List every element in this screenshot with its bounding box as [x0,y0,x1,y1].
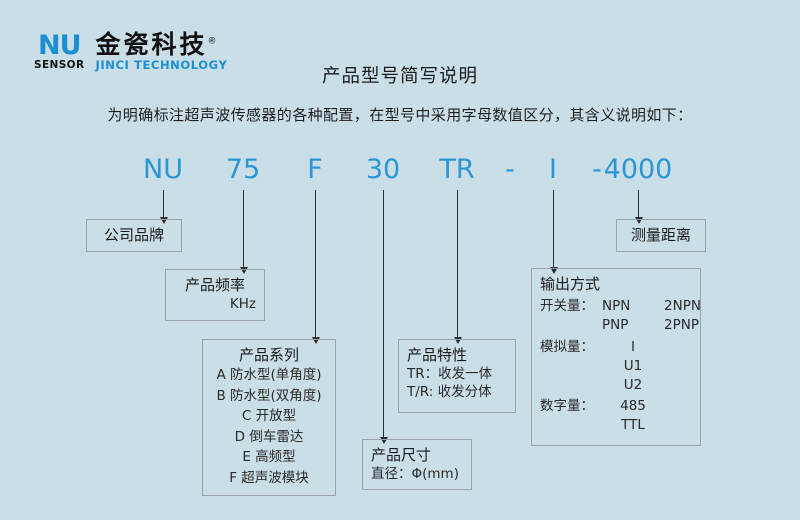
model-part-2: F [285,154,345,185]
model-part-3: 30 [353,154,413,185]
output-group-key-0: 开关量： [540,294,602,314]
output-row-0-0: 开关量：NPN2NPN [540,294,692,316]
output-values-2-1: TTL [602,416,664,435]
model-part-8: 4000 [598,154,678,185]
page-title: 产品型号简写说明 [0,62,800,88]
connector-line-brand [163,190,164,217]
output-values-0-0: NPN2NPN [602,297,726,316]
diagram-canvas: NU SENSOR 金瓷科技® JINCI TECHNOLOGY 产品型号简写说… [0,0,800,520]
series-item-2: C 开放型 [211,406,327,427]
callout-box-frequency: 产品频率 KHz [165,269,265,321]
output-group-key-1: 模拟量： [540,335,602,355]
callout-box-series: 产品系列 A 防水型(单角度)B 防水型(双角度)C 开放型D 倒车雷达E 高频… [202,339,336,496]
output-values-1-0: I [602,338,664,357]
callout-output-title: 输出方式 [540,273,692,294]
feature-item-0: TR：收发一体 [407,365,507,383]
connector-line-series [315,190,316,337]
series-item-4: E 高频型 [211,447,327,468]
connector-line-freq [243,190,244,267]
output-row-0-1: PNP2PNP [540,316,692,335]
callout-series-title: 产品系列 [211,344,327,365]
output-row-1-1: U1 [540,357,692,376]
model-part-5: - [490,154,530,185]
output-values-2-0: 485 [602,397,664,416]
output-values-0-1: PNP2PNP [602,316,726,335]
output-values-1-1: U1 [602,357,664,376]
output-value-a-1-2: U2 [602,376,664,395]
output-value-a-2-0: 485 [602,397,664,416]
connector-line-output [553,190,554,267]
output-values-1-2: U2 [602,376,664,395]
feature-item-1: T/R: 收发分体 [407,383,507,401]
model-part-6: I [533,154,573,185]
output-row-2-1: TTL [540,416,692,435]
callout-feature-title: 产品特性 [407,344,507,365]
callout-feature-list: TR：收发一体T/R: 收发分体 [407,365,507,401]
output-row-2-0: 数字量：485 [540,394,692,416]
series-item-0: A 防水型(单角度) [211,365,327,386]
size-item-0: 直径：Φ(mm) [371,465,463,483]
output-value-b-0-0: 2NPN [664,297,726,316]
callout-output-groups: 开关量：NPN2NPNPNP2PNP模拟量：IU1U2数字量：485TTL [540,294,692,435]
output-row-1-2: U2 [540,376,692,395]
callout-distance-title: 测量距离 [625,224,697,245]
registered-trademark-icon: ® [208,37,217,47]
connector-line-distance [638,190,639,217]
model-part-0: NU [133,154,193,185]
output-value-a-1-1: U1 [602,357,664,376]
connector-line-feature [457,190,458,337]
output-value-b-0-1: 2PNP [664,316,726,335]
output-row-1-0: 模拟量：I [540,335,692,357]
series-item-3: D 倒车雷达 [211,427,327,448]
series-item-5: F 超声波模块 [211,468,327,489]
callout-size-title: 产品尺寸 [371,444,463,465]
callout-series-list: A 防水型(单角度)B 防水型(双角度)C 开放型D 倒车雷达E 高频型F 超声… [211,365,327,488]
model-part-1: 75 [213,154,273,185]
logo-mark-text: NU [38,32,81,59]
callout-brand-title: 公司品牌 [95,224,173,245]
output-value-a-0-1: PNP [602,316,664,335]
callout-frequency-title: 产品频率 [174,274,256,295]
callout-box-output: 输出方式 开关量：NPN2NPNPNP2PNP模拟量：IU1U2数字量：485T… [531,268,701,446]
callout-box-brand: 公司品牌 [86,219,182,252]
logo-company-name-cn: 金瓷科技® [96,32,228,57]
callout-size-list: 直径：Φ(mm) [371,465,463,483]
output-group-key-2: 数字量： [540,394,602,414]
model-part-4: TR [427,154,487,185]
callout-box-size: 产品尺寸 直径：Φ(mm) [362,439,472,490]
output-value-a-0-0: NPN [602,297,664,316]
connector-line-size [383,190,384,437]
output-value-a-1-0: I [602,338,664,357]
series-item-1: B 防水型(双角度) [211,386,327,407]
logo-company-name-cn-text: 金瓷科技 [96,30,208,59]
page-subtitle: 为明确标注超声波传感器的各种配置，在型号中采用字母数值区分，其含义说明如下： [0,104,800,125]
callout-box-distance: 测量距离 [616,219,706,252]
callout-frequency-unit: KHz [174,295,256,313]
callout-box-feature: 产品特性 TR：收发一体T/R: 收发分体 [398,339,516,413]
output-value-a-2-1: TTL [602,416,664,435]
